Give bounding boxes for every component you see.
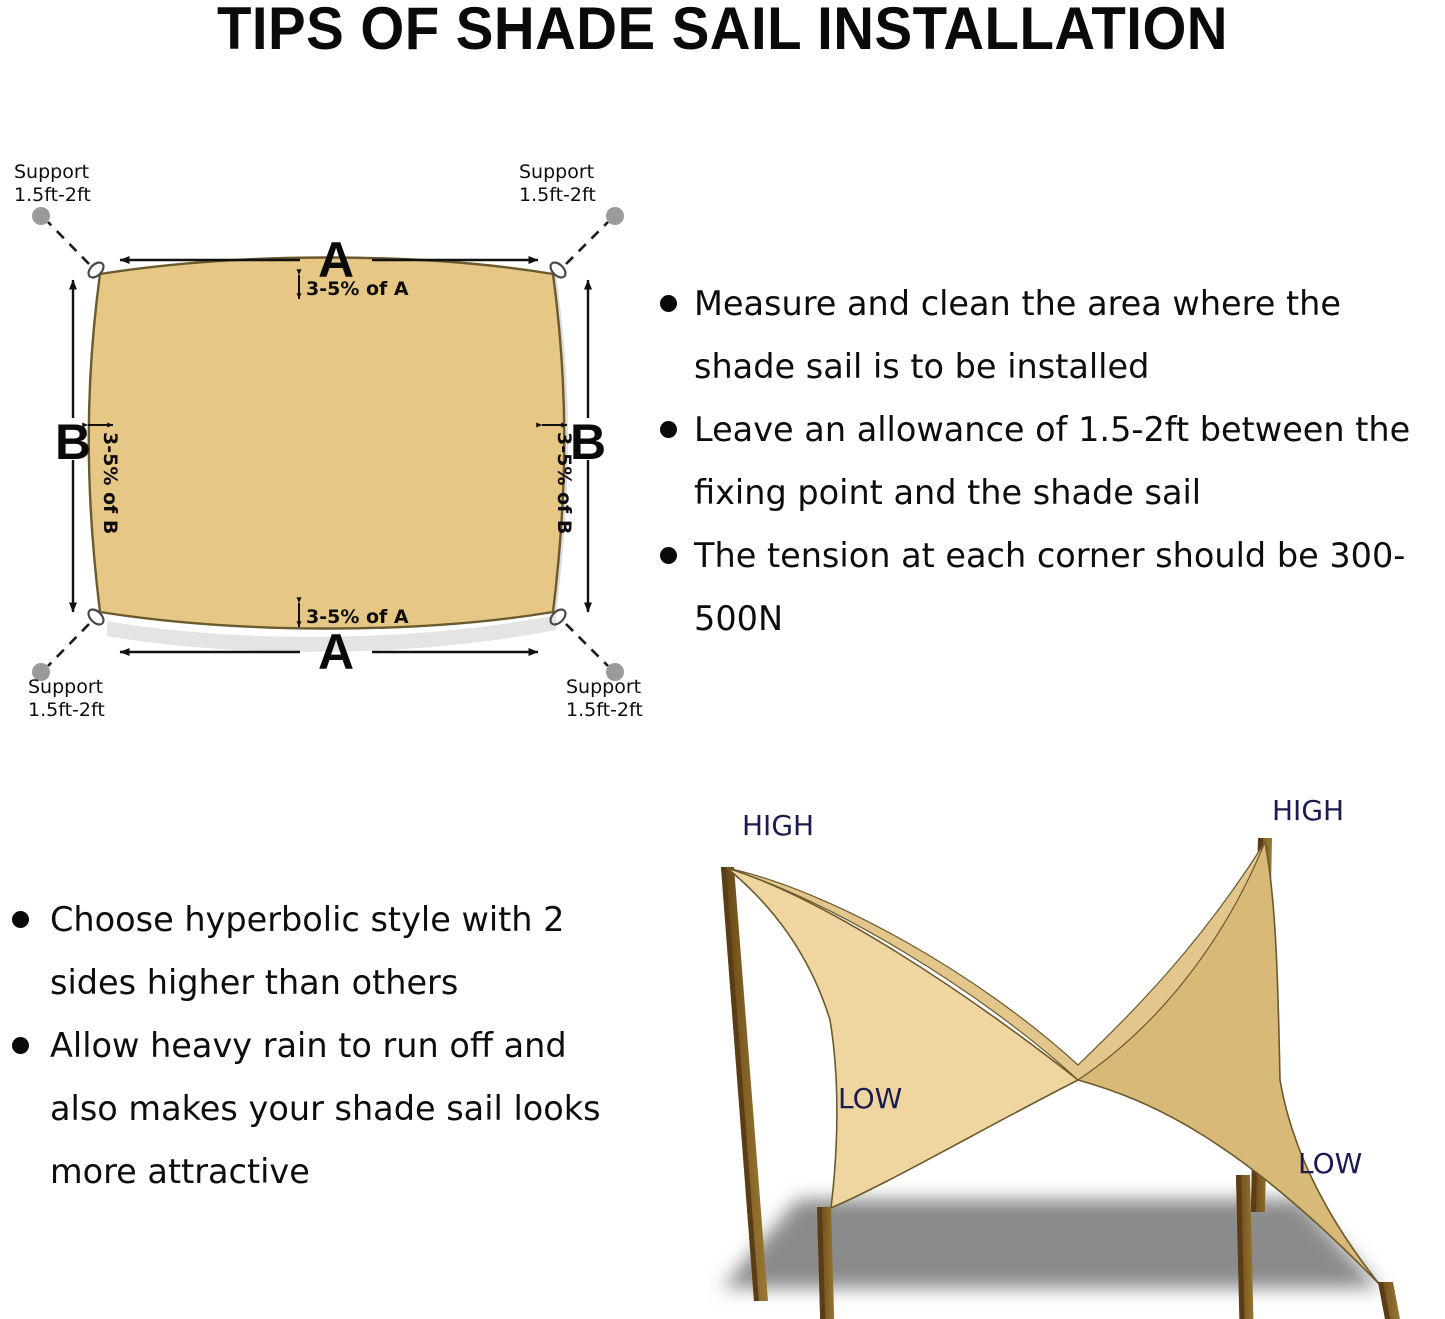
hyperbolic-sail-illustration: HIGH HIGH LOW LOW bbox=[680, 780, 1445, 1319]
dimension-b-left-label: B bbox=[55, 414, 91, 470]
list-item: Allow heavy rain to run off and also mak… bbox=[8, 1014, 628, 1203]
installation-tips-list-top: Measure and clean the area where the sha… bbox=[648, 272, 1445, 650]
list-item: Leave an allowance of 1.5-2ft between th… bbox=[648, 398, 1445, 524]
page-title: TIPS OF SHADE SAIL INSTALLATION bbox=[43, 0, 1401, 63]
curve-depth-b-right-label: 3-5% of B bbox=[553, 432, 575, 534]
curve-depth-b-left-label: 3-5% of B bbox=[99, 432, 121, 534]
support-label-bottom-right-line2: 1.5ft-2ft bbox=[566, 699, 643, 721]
label-low-left: LOW bbox=[838, 1082, 902, 1115]
installation-tips-list-bottom: Choose hyperbolic style with 2 sides hig… bbox=[8, 888, 628, 1203]
label-high-left: HIGH bbox=[742, 809, 814, 842]
curve-depth-a-top-label: 3-5% of A bbox=[306, 278, 409, 300]
curve-depth-a-top: 3-5% of A bbox=[299, 275, 409, 300]
label-low-right: LOW bbox=[1298, 1147, 1362, 1180]
post-high-left bbox=[721, 867, 768, 1301]
dimension-a-bottom-label: A bbox=[318, 624, 354, 680]
support-label-bottom-left-line1: Support bbox=[28, 676, 103, 698]
list-item: Measure and clean the area where the sha… bbox=[648, 272, 1445, 398]
list-item: The tension at each corner should be 300… bbox=[648, 524, 1445, 650]
support-label-top-left-line1: Support bbox=[14, 161, 89, 183]
dimension-b-left: B bbox=[55, 280, 91, 612]
support-label-bottom-right-line1: Support bbox=[566, 676, 641, 698]
curve-depth-a-bottom-label: 3-5% of A bbox=[306, 606, 409, 628]
support-label-bottom-left-line2: 1.5ft-2ft bbox=[28, 699, 105, 721]
support-label-top-right-line1: Support bbox=[519, 161, 594, 183]
post-low-right bbox=[1378, 1282, 1400, 1319]
shade-sail-shape bbox=[89, 258, 565, 629]
support-label-top-right-line2: 1.5ft-2ft bbox=[519, 184, 596, 206]
rectangular-sail-diagram: Support 1.5ft-2ft Support 1.5ft-2ft Supp… bbox=[0, 160, 660, 730]
label-high-right: HIGH bbox=[1272, 794, 1344, 827]
list-item: Choose hyperbolic style with 2 sides hig… bbox=[8, 888, 628, 1014]
support-label-top-left-line2: 1.5ft-2ft bbox=[14, 184, 91, 206]
sail-panel-front bbox=[727, 868, 1078, 1208]
curve-depth-a-bottom: 3-5% of A bbox=[299, 603, 409, 628]
